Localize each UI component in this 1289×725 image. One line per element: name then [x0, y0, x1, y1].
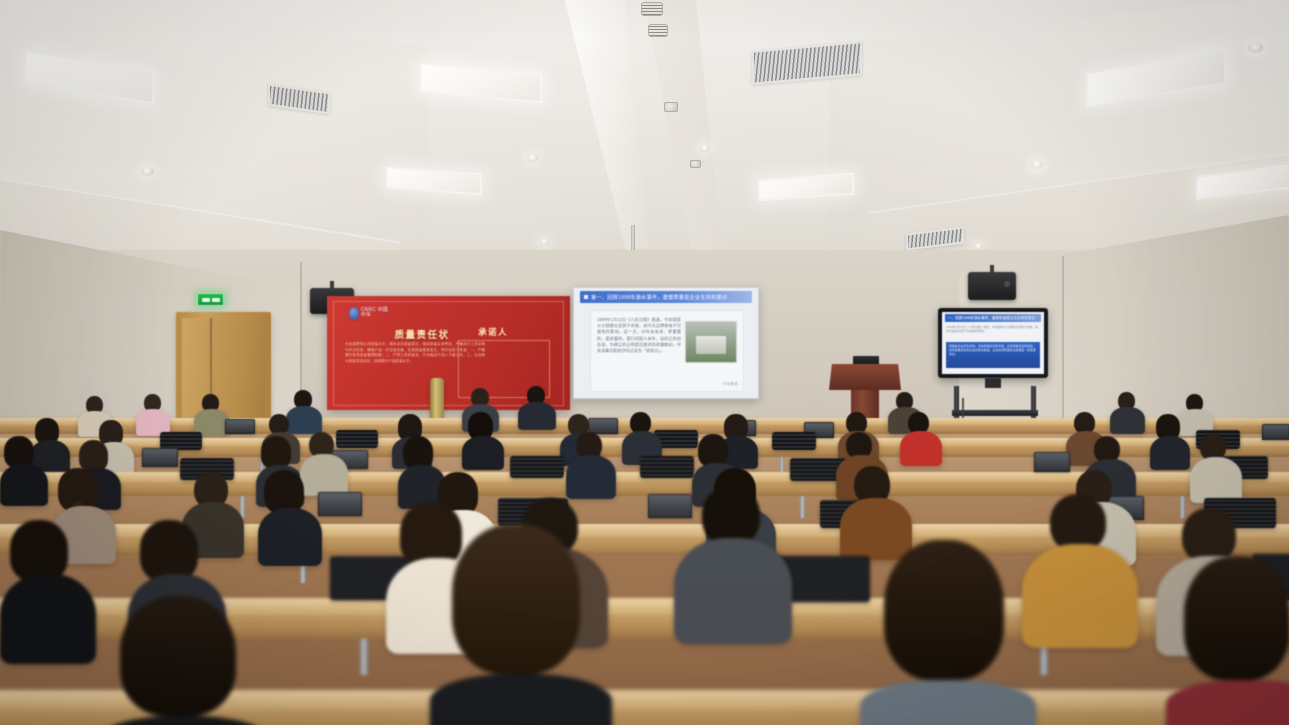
- laptop[interactable]: [648, 494, 692, 518]
- downlight: [527, 154, 538, 162]
- slide-header-text: 第一、回顾1998年渤水事件，重塑质量是企业生存的意识: [591, 294, 727, 301]
- classroom-photo: CRRC 中国中车 质量责任状 承诺人 为全面贯彻公司质量方针，强化全员质量意识…: [0, 0, 1289, 725]
- torso: [1150, 436, 1190, 470]
- downlight: [1031, 160, 1043, 169]
- torso: [258, 508, 322, 566]
- desk-leg: [780, 457, 784, 473]
- display-screen: 一、回顾1998年渤水事件，重塑质量是企业生存的意识 1998年1月12日《人民…: [942, 312, 1044, 374]
- torso: [0, 464, 48, 506]
- downlight: [700, 144, 710, 152]
- downlight: [540, 238, 549, 245]
- torso: [430, 674, 612, 725]
- hair: [1184, 556, 1289, 680]
- torso: [860, 680, 1036, 725]
- torso: [518, 402, 556, 430]
- torso: [674, 538, 792, 644]
- downlight: [974, 243, 983, 250]
- torso: [1166, 680, 1289, 725]
- bullet-square-icon: [584, 295, 588, 299]
- torso: [1022, 544, 1138, 648]
- logo-text: CRRC 中国中车: [361, 308, 389, 319]
- company-logo: CRRC 中国中车: [349, 305, 389, 321]
- right-wall-speaker: [968, 272, 1016, 300]
- floor-cylinder-object: [430, 378, 444, 420]
- laptop[interactable]: [1262, 424, 1289, 440]
- torso: [462, 436, 504, 470]
- ceiling-speaker: [690, 160, 701, 168]
- torso: [840, 498, 912, 560]
- lectern-top: [829, 364, 901, 390]
- head: [702, 486, 760, 546]
- exit-sign-glyph: [202, 298, 210, 302]
- chair[interactable]: [510, 456, 564, 478]
- hair: [10, 520, 68, 582]
- laptop[interactable]: [225, 419, 255, 434]
- laptop[interactable]: [318, 492, 362, 516]
- chair[interactable]: [336, 430, 378, 448]
- ceiling-panel-light: [420, 63, 542, 104]
- emergency-exit-sign: [197, 293, 224, 306]
- ceiling-speaker: [648, 24, 668, 37]
- laptop[interactable]: [1034, 452, 1070, 472]
- desk-leg: [360, 639, 368, 675]
- torso: [1190, 457, 1242, 503]
- slide-body-text: 1998年1月12日《人民日报》报道，中央国家计大规模水泥质不合格，如中天品牌带…: [597, 317, 681, 354]
- chair[interactable]: [640, 456, 694, 478]
- ceiling-speaker: [641, 2, 663, 16]
- display-body-text: 1998年1月12日《人民日报》报道，中央国家计大规模水泥质不合格，如中天品牌带…: [946, 325, 1040, 333]
- torso: [300, 454, 348, 496]
- ceiling-speaker: [664, 102, 678, 112]
- projector-mount-pole: [631, 225, 635, 253]
- laptop[interactable]: [142, 448, 178, 467]
- slide-footer-logo: 中车集团: [723, 382, 738, 387]
- torso: [0, 574, 96, 664]
- chair[interactable]: [772, 432, 816, 450]
- desk-leg: [1180, 496, 1185, 518]
- torso: [566, 455, 616, 499]
- slide-header-bar: 第一、回顾1998年渤水事件，重塑质量是企业生存的意识: [580, 291, 752, 303]
- torso: [900, 431, 942, 466]
- wall-mounted-display: 一、回顾1998年渤水事件，重塑质量是企业生存的意识 1998年1月12日《人民…: [938, 308, 1048, 378]
- torso: [286, 406, 322, 434]
- exit-sign-glyph: [212, 298, 220, 302]
- projection-screen: 第一、回顾1998年渤水事件，重塑质量是企业生存的意识 1998年1月12日《人…: [573, 287, 759, 399]
- hair: [884, 540, 1004, 680]
- logo-mark-icon: [349, 307, 359, 320]
- hair: [140, 520, 198, 582]
- wall-corner-right: [1062, 256, 1064, 436]
- banner-subtitle: 承诺人: [450, 326, 536, 338]
- hair: [452, 524, 580, 674]
- monument-stone-shape: [696, 336, 726, 354]
- slide-photo-monument: [685, 321, 737, 363]
- downlight: [1248, 42, 1263, 53]
- slide-content-area: 1998年1月12日《人民日报》报道，中央国家计大规模水泥质不合格，如中天品牌带…: [590, 310, 744, 392]
- display-header-bar: 一、回顾1998年渤水事件，重塑质量是企业生存的意识: [945, 314, 1041, 322]
- desk-leg: [800, 496, 805, 518]
- hair: [120, 596, 236, 716]
- downlight: [141, 167, 154, 176]
- display-highlight-block: 质量是企业的生命线。没有质量就没有市场，没有质量就没有效益，没有质量就没有企业的…: [946, 342, 1040, 368]
- torso: [1110, 407, 1145, 434]
